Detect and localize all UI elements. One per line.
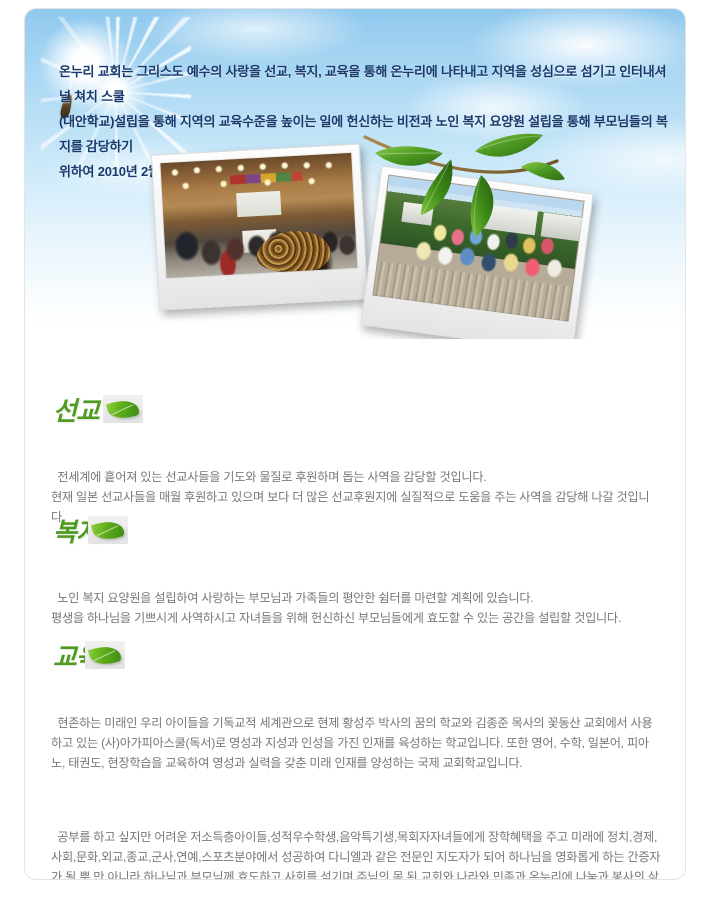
section-mission-heading: 선교 bbox=[25, 391, 686, 427]
section-education: 교육 현존하는 미래인 우리 아이들을 기독교적 세계관으로 현제 황성주 박사… bbox=[25, 637, 686, 880]
section-mission-title: 선교 bbox=[53, 391, 99, 428]
photo-collage bbox=[25, 129, 686, 339]
church-meeting-image bbox=[159, 152, 358, 279]
paragraph: 노인 복지 요양원을 설립하여 사랑하는 부모님과 가족들의 평안한 쉼터를 마… bbox=[51, 588, 661, 628]
children-group-image bbox=[372, 175, 584, 322]
section-education-heading: 교육 bbox=[25, 637, 686, 673]
paragraph: 공부를 하고 싶지만 어려운 저소득층아이들,성적우수학생,음악특기생,목회자자… bbox=[51, 827, 661, 880]
children-group-photo bbox=[360, 166, 593, 339]
section-education-body: 현존하는 미래인 우리 아이들을 기독교적 세계관으로 현제 황성주 박사의 꿈… bbox=[25, 673, 686, 880]
section-welfare-heading: 복지 bbox=[25, 512, 686, 548]
sky-banner: 온누리 교회는 그리스도 예수의 사랑을 선교, 복지, 교육을 통해 온누리에… bbox=[25, 9, 686, 339]
paragraph: 현존하는 미래인 우리 아이들을 기독교적 세계관으로 현제 황성주 박사의 꿈… bbox=[51, 713, 661, 773]
content-card: 온누리 교회는 그리스도 예수의 사랑을 선교, 복지, 교육을 통해 온누리에… bbox=[24, 8, 686, 880]
church-meeting-photo bbox=[151, 143, 368, 310]
